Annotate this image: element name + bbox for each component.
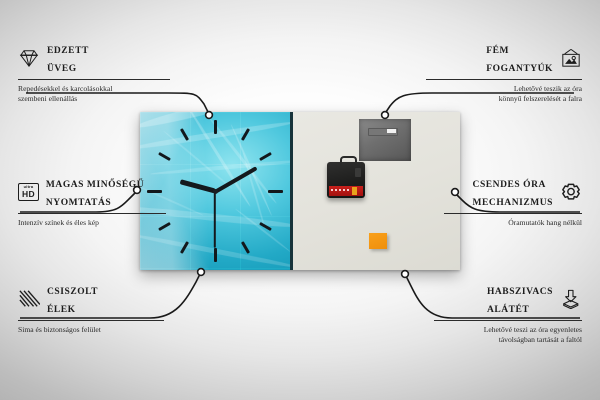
callout-description: Repedésekkel és karcolásokkal szembeni e… [18,84,173,105]
clock-mechanism-part [327,162,365,198]
ultra-hd-badge-icon: ultra HD [18,183,39,201]
mechanism-knob [355,168,361,177]
beveled-edges-icon [18,289,40,309]
callout-divider [18,320,164,321]
metal-hanger-part [359,119,411,161]
foam-pad-part [369,233,387,249]
ultra-hd-badge-bottom: HD [22,190,35,199]
foam-pad-icon [560,289,582,309]
callout-metal-handles: FÉM FOGANTYÚK Lehetővé teszik az óra kön… [424,40,582,105]
hanger-slot [368,128,398,136]
callout-tempered-glass: EDZETT ÜVEG Repedésekkel és karcolásokka… [18,40,173,105]
callout-description: Lehetővé teszi az óra egyenletes távolsá… [432,325,582,346]
clock-tick [214,248,217,262]
mechanism-loop [340,156,357,167]
callout-divider [426,79,582,80]
clock-center-pin [213,189,218,194]
callout-title-2: NYOMTATÁS [46,198,111,208]
gear-icon [560,182,582,202]
callout-title: EDZETT [47,46,89,56]
callout-description: Sima és biztonságos felület [18,325,166,335]
product-photo [140,112,460,270]
callout-title: CSENDES ÓRA [473,180,546,190]
picture-hanger-icon [560,48,582,68]
callout-divider [434,320,582,321]
callout-description: Intenzív színek és éles kép [18,218,168,228]
clock-tick [214,120,217,134]
clock-tick [268,190,283,193]
callout-title: MAGAS MINŐSÉGŰ [46,180,144,190]
second-hand [214,191,216,247]
callout-description: Óramutatók hang nélkül [442,218,582,228]
callout-silent-mechanism: CSENDES ÓRA MECHANIZMUS Óramutatók hang … [442,174,582,228]
callout-title: FÉM [486,46,509,56]
callout-title-2: MECHANIZMUS [473,198,553,208]
callout-high-quality-print: ultra HD MAGAS MINŐSÉGŰ NYOMTATÁS Intenz… [18,174,168,228]
wire-endpoint-dot [402,271,409,278]
callout-title-2: ALÁTÉT [487,305,529,315]
callout-foam-pad: HABSZIVACS ALÁTÉT Lehetővé teszi az óra … [432,281,582,346]
callout-polished-edges: CSISZOLT ÉLEK Sima és biztonságos felüle… [18,281,166,335]
diamond-icon [18,48,40,68]
callout-title-2: FOGANTYÚK [486,64,553,74]
callout-title: CSISZOLT [47,287,98,297]
callout-divider [18,79,170,80]
callout-title-2: ÉLEK [47,305,76,315]
callout-divider [444,213,582,214]
callout-description: Lehetővé teszik az óra könnyű felszerelé… [424,84,582,105]
clock-back-view [293,112,460,270]
mechanism-label [329,186,363,196]
callout-title-2: ÜVEG [47,64,77,74]
callout-title: HABSZIVACS [487,287,553,297]
infographic-canvas: EDZETT ÜVEG Repedésekkel és karcolásokka… [0,0,600,400]
callout-divider [18,213,166,214]
